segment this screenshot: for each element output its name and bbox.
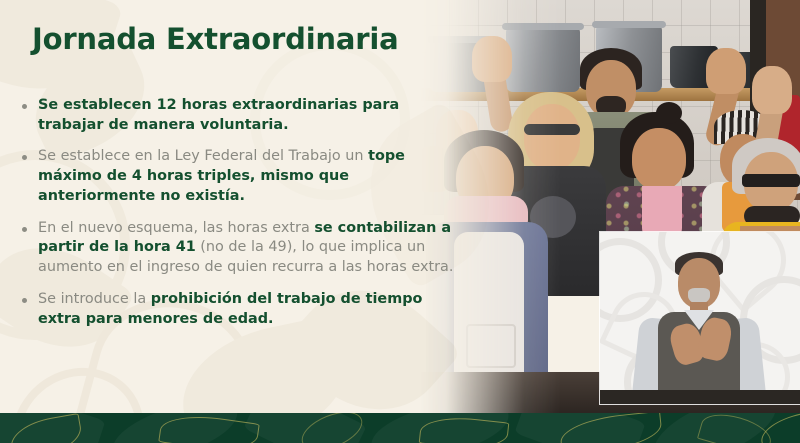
bullet-dot-icon [22,227,27,232]
presentation-slide: Jornada Extraordinaria Se establecen 12 … [0,0,800,443]
bullet-dot-icon [22,155,27,160]
bullet-dot-icon [22,298,27,303]
page-title: Jornada Extraordinaria [32,22,398,56]
bullet-text-4: Se introduce la prohibición del trabajo … [38,290,462,329]
bullet-text-1: Se establecen 12 horas extraordinarias p… [38,96,462,135]
list-item: Se establecen 12 horas extraordinarias p… [10,96,462,135]
bullet-text-2: Se establece en la Ley Federal del Traba… [38,147,462,206]
sign-language-interpreter-inset [600,232,800,404]
list-item: En el nuevo esquema, las horas extra se … [10,219,462,278]
bottom-decorative-band [0,413,800,443]
text-column: Jornada Extraordinaria Se establecen 12 … [0,0,470,410]
list-item: Se introduce la prohibición del trabajo … [10,290,462,329]
bullet-text-3: En el nuevo esquema, las horas extra se … [38,219,462,278]
bullet-list: Se establecen 12 horas extraordinarias p… [10,96,462,341]
bullet-dot-icon [22,104,27,109]
list-item: Se establece en la Ley Federal del Traba… [10,147,462,206]
